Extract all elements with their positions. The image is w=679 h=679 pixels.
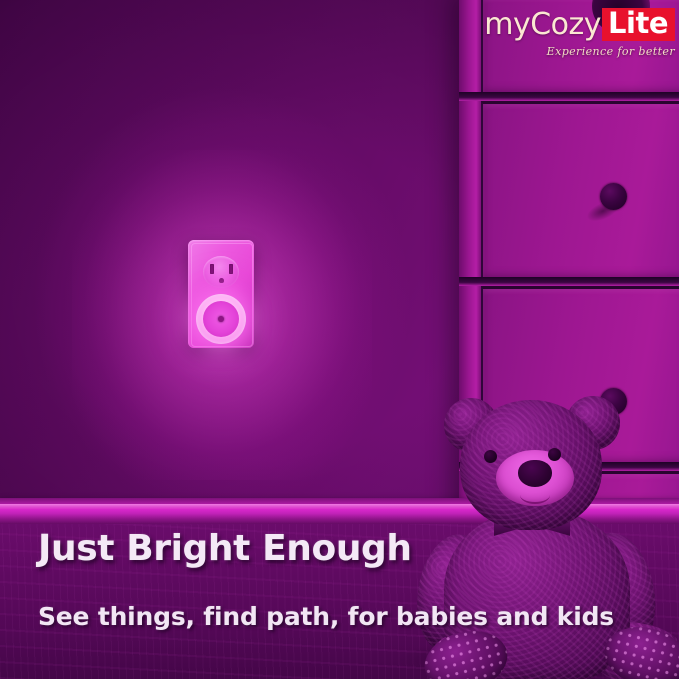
brand-logo-cozy: Cozy — [530, 10, 601, 40]
product-lifestyle-image: myCozyLite Experience for better Just Br… — [0, 0, 679, 679]
brand-tagline: Experience for better — [515, 45, 675, 58]
outlet-ground-pin — [219, 278, 224, 283]
headline-text: Just Bright Enough — [38, 528, 412, 569]
dresser-drawer-gap — [459, 277, 679, 286]
brand-logo-wordmark: myCozyLite — [515, 8, 675, 41]
bear-mouth — [520, 486, 550, 504]
outlet-socket — [203, 256, 239, 288]
teddy-bear — [408, 392, 679, 679]
bear-nose — [518, 460, 552, 487]
dresser-drawer-middle — [481, 101, 679, 280]
subheadline-text: See things, find path, for babies and ki… — [38, 602, 614, 631]
dresser-knob-middle — [600, 183, 627, 210]
brand-logo: myCozyLite Experience for better — [515, 8, 675, 60]
dresser-drawer-gap — [459, 92, 679, 101]
brand-logo-my: my — [484, 10, 530, 40]
brand-logo-lite: Lite — [602, 8, 675, 41]
outlet-slot-right — [229, 264, 233, 274]
bear-eye-left — [484, 450, 497, 463]
outlet-slot-left — [210, 264, 214, 274]
night-light-sensor — [218, 316, 224, 322]
bear-eye-right — [548, 448, 561, 461]
